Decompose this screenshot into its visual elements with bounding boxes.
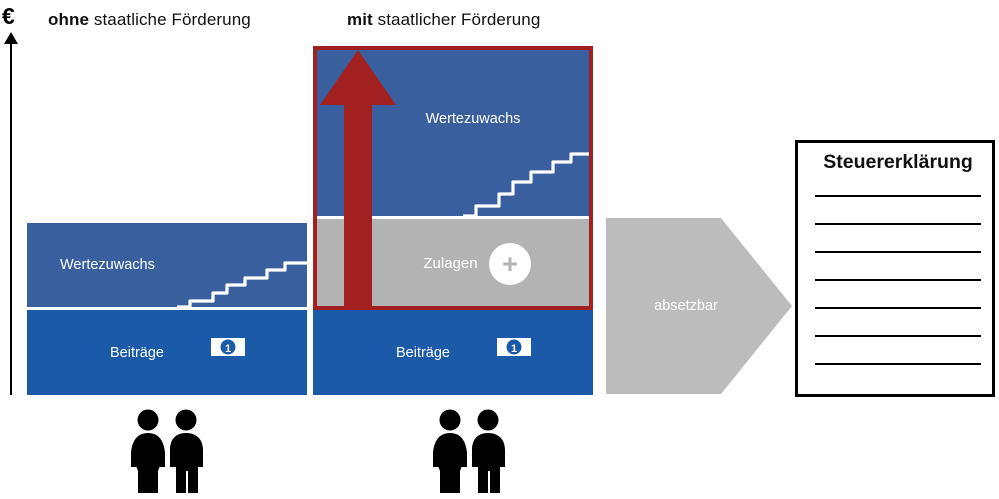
- doc-line: [815, 195, 981, 197]
- banknote-glyph: 1: [208, 335, 248, 359]
- couple-icon-funded: [420, 409, 518, 493]
- heading-funded-bold: mit: [347, 10, 373, 29]
- bar-unfunded-contributions-label: Beiträge: [27, 310, 307, 395]
- heading-unfunded: ohne staatliche Förderung: [48, 10, 251, 30]
- doc-line: [815, 279, 981, 281]
- doc-line: [815, 307, 981, 309]
- doc-line: [815, 223, 981, 225]
- euro-axis-label: €: [2, 5, 15, 28]
- banknote-glyph-funded: 1: [494, 335, 534, 359]
- tax-return-document: Steuererklärung: [795, 140, 995, 397]
- absetzbar-label: absetzbar: [606, 218, 766, 394]
- bar-funded-contributions-label: Beiträge: [313, 310, 593, 395]
- heading-unfunded-bold: ohne: [48, 10, 89, 29]
- banknote-icon-funded: 1: [492, 333, 536, 361]
- heading-unfunded-rest: staatliche Förderung: [89, 10, 251, 29]
- doc-line: [815, 335, 981, 337]
- deduction-arrow-icon: [320, 50, 396, 310]
- bar-unfunded-growth-label: Wertezuwachs: [27, 223, 307, 307]
- doc-line: [815, 363, 981, 365]
- svg-text:1: 1: [225, 343, 231, 355]
- svg-text:1: 1: [511, 343, 517, 355]
- diagram-canvas: ohne staatliche Förderung mit staatliche…: [0, 0, 999, 499]
- doc-line: [815, 251, 981, 253]
- plus-badge-symbol: +: [502, 251, 518, 278]
- banknote-icon-unfunded: 1: [206, 333, 250, 361]
- heading-funded: mit staatlicher Förderung: [347, 10, 540, 30]
- heading-funded-rest: staatlicher Förderung: [373, 10, 541, 29]
- tax-return-title: Steuererklärung: [808, 151, 988, 174]
- plus-badge-icon: +: [489, 243, 531, 285]
- value-axis: [10, 43, 12, 395]
- couple-icon-unfunded: [118, 409, 216, 493]
